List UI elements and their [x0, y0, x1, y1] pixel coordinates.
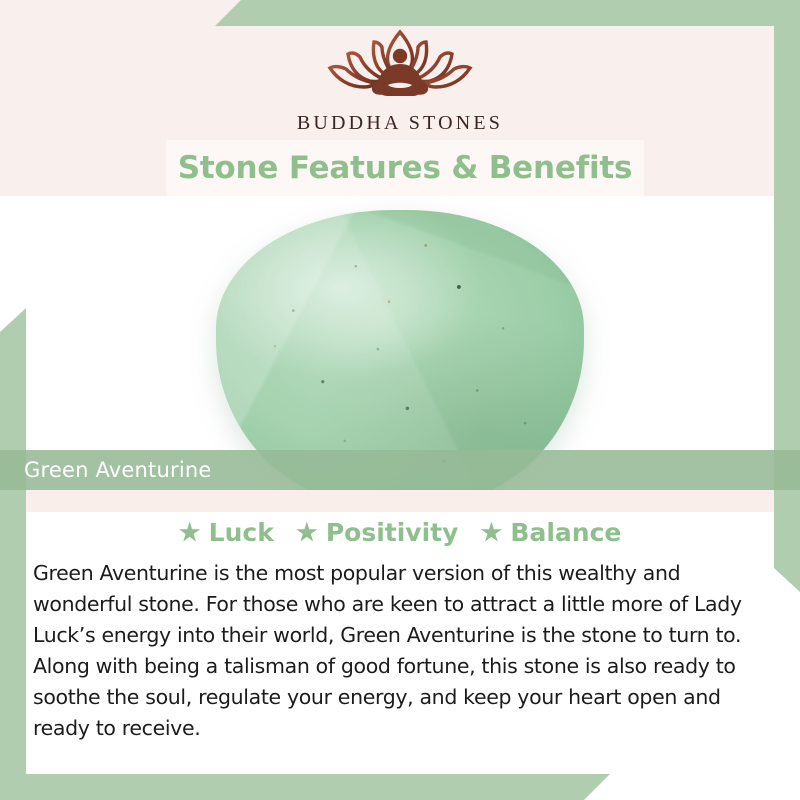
decor-frame-right [774, 0, 800, 592]
benefit-label: Positivity [326, 518, 459, 547]
benefit-item: Balance [480, 518, 621, 547]
star-icon [179, 522, 201, 544]
stone-photo [0, 196, 800, 490]
benefit-label: Luck [209, 518, 274, 547]
benefit-item: Luck [179, 518, 274, 547]
stone-name-band: Green Aventurine [0, 450, 800, 490]
star-icon [480, 522, 502, 544]
title-banner: Stone Features & Benefits [166, 140, 644, 196]
poster-root: BUDDHA STONES Stone Features & Benefits … [0, 0, 800, 800]
star-icon [296, 522, 318, 544]
decor-frame-left [0, 308, 26, 800]
divider-strip [0, 490, 800, 512]
stone-name-label: Green Aventurine [24, 458, 212, 482]
benefit-item: Positivity [296, 518, 459, 547]
lotus-meditation-icon [312, 22, 488, 108]
benefit-label: Balance [510, 518, 621, 547]
benefits-row: Luck Positivity Balance [0, 518, 800, 547]
stone-description: Green Aventurine is the most popular ver… [33, 558, 770, 744]
green-aventurine-stone-image [216, 210, 584, 490]
brand-logo: BUDDHA STONES [0, 22, 800, 135]
decor-frame-bottom [0, 774, 610, 800]
decor-frame-top [215, 0, 800, 26]
brand-name: BUDDHA STONES [297, 112, 503, 135]
body-pane: Luck Positivity Balance Green Aventurine… [0, 490, 800, 800]
page-title: Stone Features & Benefits [178, 150, 633, 186]
